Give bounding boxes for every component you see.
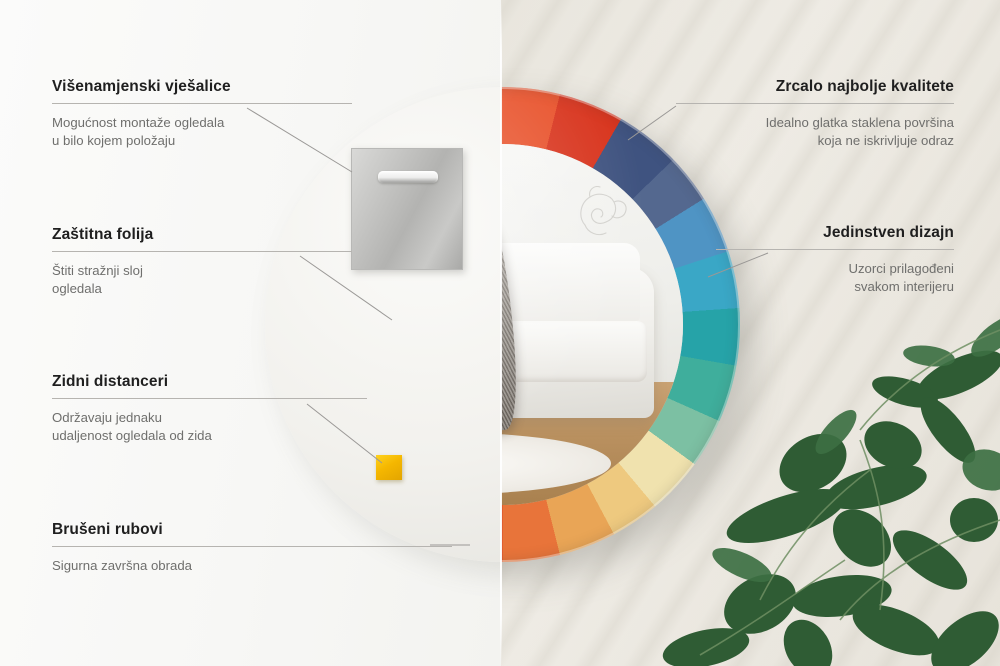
infographic-canvas: Višenamjenski vješalice Mogućnost montaž… (0, 0, 1000, 666)
callout-description: Štiti stražnji sloj ogledala (52, 262, 352, 297)
callout-title: Jedinstven dizajn (716, 224, 954, 242)
callout-multi-purpose-hangers: Višenamjenski vješalice Mogućnost montaž… (52, 78, 352, 149)
wall-spacer-block (376, 455, 402, 480)
callout-unique-design: Jedinstven dizajn Uzorci prilagođeni sva… (716, 224, 954, 295)
callout-description: Održavaju jednaku udaljenost ogledala od… (52, 409, 367, 444)
callout-description: Mogućnost montaže ogledala u bilo kojem … (52, 114, 352, 149)
callout-title: Višenamjenski vješalice (52, 78, 352, 96)
callout-title: Zrcalo najbolje kvalitete (676, 78, 954, 96)
callout-polished-edges: Brušeni rubovi Sigurna završna obrada (52, 521, 452, 575)
brand-watermark-icon (570, 179, 638, 249)
callout-rule (52, 398, 367, 399)
callout-wall-spacers: Zidni distanceri Održavaju jednaku udalj… (52, 373, 367, 444)
callout-title: Zidni distanceri (52, 373, 367, 391)
callout-rule (52, 546, 452, 547)
panel-divider (500, 0, 502, 666)
callout-rule (716, 249, 954, 250)
hanger-keyhole-slot (378, 171, 437, 183)
callout-best-quality-mirror: Zrcalo najbolje kvalitete Idealno glatka… (676, 78, 954, 149)
callout-rule (676, 103, 954, 104)
callout-title: Zaštitna folija (52, 226, 352, 244)
callout-rule (52, 103, 352, 104)
callout-description: Sigurna završna obrada (52, 557, 452, 575)
callout-description: Uzorci prilagođeni svakom interijeru (716, 260, 954, 295)
callout-title: Brušeni rubovi (52, 521, 452, 539)
wall-hanger-plate (351, 148, 463, 270)
callout-protective-film: Zaštitna folija Štiti stražnji sloj ogle… (52, 226, 352, 297)
callout-description: Idealno glatka staklena površina koja ne… (676, 114, 954, 149)
callout-rule (52, 251, 352, 252)
